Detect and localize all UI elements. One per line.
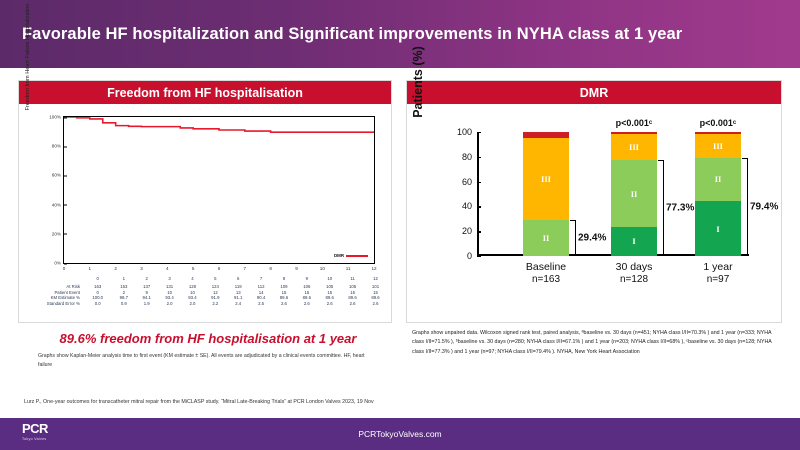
risk-table-col-header: 1 [112, 276, 135, 284]
risk-table-cell: 2.6 [295, 301, 318, 307]
km-legend-line-swatch [346, 255, 368, 257]
bar-stack: IIIII [523, 132, 569, 256]
brace-percentage-label: 29.4% [578, 232, 606, 243]
bar-category-label: Baseline [526, 261, 566, 273]
bar-category-label: 30 days [616, 261, 653, 273]
risk-table-col-header: 10 [318, 276, 341, 284]
p-value-label: p<0.001ᶜ [616, 118, 653, 128]
brace-percentage-label: 77.3% [666, 203, 694, 214]
bar-y-tick: 40 [462, 201, 477, 211]
km-x-tick: 1 [89, 263, 92, 271]
p-value-label: p<0.001ᶜ [700, 118, 737, 128]
bar-segment-class-I: I [695, 201, 741, 256]
risk-table-header-row: 0123456789101112 [25, 276, 387, 284]
km-x-tick: 9 [295, 263, 298, 271]
bar-y-tick: 20 [462, 226, 477, 236]
risk-table-cell: 2.6 [273, 301, 296, 307]
km-legend: DMR [334, 253, 368, 258]
panel-right-header: DMR [407, 81, 781, 104]
bar-y-tick: 100 [457, 127, 477, 137]
bar-segment-class-III: III [695, 134, 741, 157]
bar-segment-class-III: III [523, 138, 569, 220]
bar-segment-class-II: II [695, 158, 741, 202]
bar-segment-class-IV [523, 132, 569, 138]
km-x-tick: 11 [346, 263, 351, 271]
km-curve-svg [64, 117, 374, 263]
bar-column-1-year[interactable]: IIIIIIp<0.001ᶜ79.4%1 yearn=97 [695, 132, 741, 256]
bar-segment-class-I: I [611, 227, 657, 256]
bar-column-baseline[interactable]: IIIII29.4%Baselinen=163 [523, 132, 569, 256]
risk-table-cell: 1.9 [135, 301, 158, 307]
risk-table-col-header: 6 [227, 276, 250, 284]
risk-table-col-header: 7 [250, 276, 273, 284]
risk-table-cell: 2.6 [364, 301, 387, 307]
risk-table-cell: 2.6 [341, 301, 364, 307]
risk-table-col-header: 5 [204, 276, 227, 284]
km-y-tick: 80% [52, 144, 64, 149]
km-plot-area: DMR 0%20%40%60%80%100%0123456789101112 [63, 116, 375, 264]
headline-statement: 89.6% freedom from HF hospitalisation at… [28, 331, 388, 346]
footer-url: PCRTokyoValves.com [0, 418, 800, 450]
bar-segment-class-IV [611, 132, 657, 134]
km-y-axis-label: Freedom from Heart Failure Hospitalizati… [25, 0, 31, 132]
bar-x-category: Baselinen=163 [526, 256, 566, 285]
km-x-tick: 2 [114, 263, 117, 271]
km-x-tick: 0 [63, 263, 66, 271]
km-y-tick: 100% [49, 115, 64, 120]
bar-stack: IIIIII [695, 132, 741, 256]
slide-footer: PCR Tokyo Valves PCRTokyoValves.com [0, 418, 800, 450]
panel-left-body: Freedom from Heart Failure Hospitalizati… [19, 104, 391, 322]
risk-table-col-header: 12 [364, 276, 387, 284]
brace-percentage-label: 79.4% [750, 201, 778, 212]
risk-table-col-header: 3 [158, 276, 181, 284]
risk-table-corner [25, 276, 83, 284]
brace-class-i-ii: 29.4% [570, 220, 576, 256]
bar-x-category: 30 daysn=128 [616, 256, 653, 285]
table-row: Standard Error %0.00.91.92.02.02.22.42.5… [25, 301, 387, 307]
bar-y-axis-label: Patients (%) [411, 22, 425, 142]
km-y-tick: 40% [52, 202, 64, 207]
slide-title-bar: Favorable HF hospitalization and Signifi… [0, 0, 800, 68]
km-y-tick: 60% [52, 173, 64, 178]
km-x-tick: 6 [218, 263, 221, 271]
bar-category-n: n=163 [526, 274, 566, 285]
risk-table-col-header: 9 [295, 276, 318, 284]
bar-column-30-days[interactable]: IIIIIIp<0.001ᶜ77.3%30 daysn=128 [611, 132, 657, 256]
bar-y-tick: 60 [462, 177, 477, 187]
risk-table-col-header: 8 [273, 276, 296, 284]
brace-class-i-ii: 77.3% [658, 160, 664, 256]
km-x-tick: 3 [140, 263, 143, 271]
bar-segment-class-III: III [611, 134, 657, 160]
bar-stack: IIIIII [611, 132, 657, 256]
bar-segment-class-IV [695, 132, 741, 134]
risk-table-col-header: 11 [341, 276, 364, 284]
panel-left-header: Freedom from HF hospitalisation [19, 81, 391, 104]
risk-table-col-header: 4 [181, 276, 204, 284]
bar-segment-class-II: II [523, 220, 569, 256]
risk-table-cell: 2.0 [158, 301, 181, 307]
km-x-tick: 8 [269, 263, 272, 271]
risk-table-cell: 2.4 [227, 301, 250, 307]
risk-table-row-label: Standard Error % [25, 301, 83, 307]
page-title: Favorable HF hospitalization and Signifi… [0, 25, 682, 44]
risk-table-cell: 0.0 [83, 301, 112, 307]
left-footnote: Graphs show Kaplan-Meier analysis time t… [38, 352, 378, 370]
risk-table-cell: 2.2 [204, 301, 227, 307]
bar-y-tick: 0 [467, 251, 477, 261]
panel-right-body: Patients (%) 020406080100IIIII29.4%Basel… [407, 104, 781, 322]
risk-table-cell: 2.6 [318, 301, 341, 307]
risk-table-cell: 2.0 [181, 301, 204, 307]
km-x-tick: 12 [371, 263, 376, 271]
km-x-tick: 10 [320, 263, 325, 271]
right-footnote: Graphs show unpaired data. Wilcoxon sign… [412, 329, 780, 357]
km-x-tick: 5 [192, 263, 195, 271]
citation-text: Lurz P., One-year outcomes for transcath… [24, 399, 764, 405]
brace-class-i-ii: 79.4% [742, 158, 748, 256]
bar-y-axis-line [477, 132, 479, 256]
km-risk-table: 0123456789101112At Risk16315313713112812… [25, 276, 387, 306]
risk-table-col-header: 0 [83, 276, 112, 284]
bar-y-tick: 80 [462, 152, 477, 162]
km-x-tick: 4 [166, 263, 169, 271]
panel-dmr: DMR Patients (%) 020406080100IIIII29.4%B… [406, 80, 782, 323]
risk-table-cell: 2.5 [250, 301, 273, 307]
km-y-tick: 20% [52, 231, 64, 236]
risk-table-col-header: 2 [135, 276, 158, 284]
km-series-line-dmr [64, 117, 374, 132]
km-legend-label: DMR [334, 253, 344, 258]
km-x-tick: 7 [244, 263, 247, 271]
panel-freedom-from-hf-hospitalisation: Freedom from HF hospitalisation Freedom … [18, 80, 392, 323]
bar-category-label: 1 year [703, 261, 732, 273]
bar-segment-class-II: II [611, 160, 657, 227]
bar-category-n: n=97 [703, 274, 732, 285]
bar-x-category: 1 yearn=97 [703, 256, 732, 285]
bar-plot-area: 020406080100IIIII29.4%Baselinen=163IIIII… [477, 132, 749, 256]
slide-root: Favorable HF hospitalization and Signifi… [0, 0, 800, 450]
risk-table-cell: 0.9 [112, 301, 135, 307]
bar-category-n: n=128 [616, 274, 653, 285]
